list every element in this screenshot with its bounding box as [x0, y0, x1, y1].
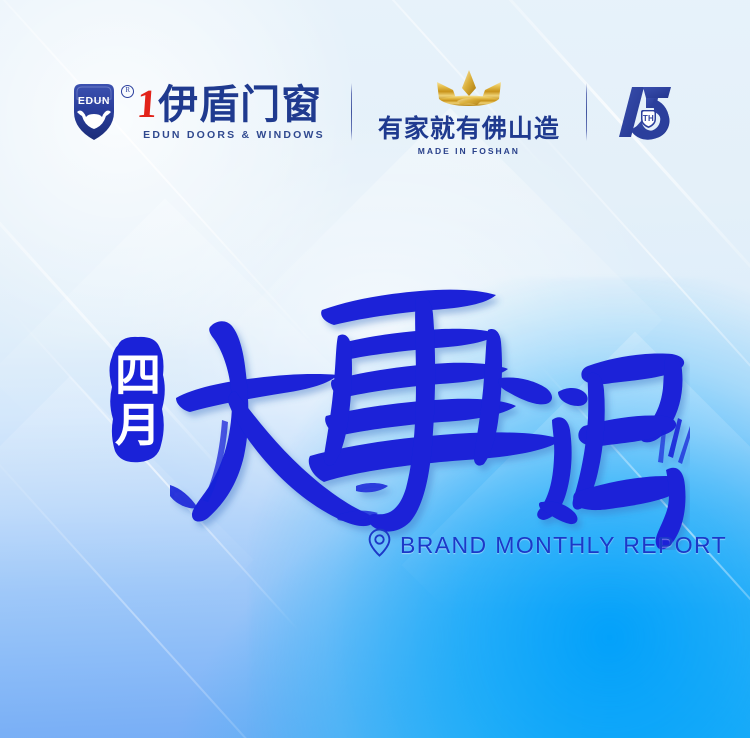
- month-char-1: 四: [115, 351, 161, 399]
- header-divider-2: [586, 83, 587, 141]
- brand-name-cn: 伊盾门窗: [158, 84, 322, 126]
- header-logo-row: EDUN R 1 伊盾门窗 EDUN DOORS & WINDOWS: [0, 62, 750, 162]
- registered-mark: R: [121, 85, 134, 98]
- slogan-en: MADE IN FOSHAN: [418, 146, 520, 156]
- brand-name-en: EDUN DOORS & WINDOWS: [137, 129, 325, 141]
- poster-canvas: EDUN R 1 伊盾门窗 EDUN DOORS & WINDOWS: [0, 0, 750, 738]
- svg-text:TH: TH: [643, 114, 654, 123]
- edun-shield-bull-icon: EDUN R: [67, 81, 121, 143]
- subtitle-row: BRAND MONTHLY REPORT: [368, 528, 727, 562]
- accent-stroke: 1: [136, 84, 159, 124]
- title-calligraphy: [170, 270, 690, 550]
- secondary-logo: 有家就有佛山造 MADE IN FOSHAN: [378, 68, 560, 156]
- subtitle-text: BRAND MONTHLY REPORT: [400, 532, 727, 559]
- primary-logo-text: 1 伊盾门窗 EDUN DOORS & WINDOWS: [137, 84, 325, 141]
- month-badge: 四 月: [98, 333, 178, 467]
- fifteenth-anniversary-icon: TH: [613, 81, 683, 143]
- gold-crown-icon: [431, 68, 507, 113]
- month-badge-glyphs: 四 月: [98, 333, 178, 467]
- primary-logo: EDUN R 1 伊盾门窗 EDUN DOORS & WINDOWS: [67, 81, 325, 143]
- slogan-cn: 有家就有佛山造: [378, 115, 560, 143]
- month-char-2: 月: [115, 401, 161, 449]
- header-divider-1: [351, 83, 352, 141]
- location-pin-icon: [368, 528, 391, 562]
- svg-text:EDUN: EDUN: [78, 95, 110, 107]
- main-title-area: 四 月: [0, 270, 750, 570]
